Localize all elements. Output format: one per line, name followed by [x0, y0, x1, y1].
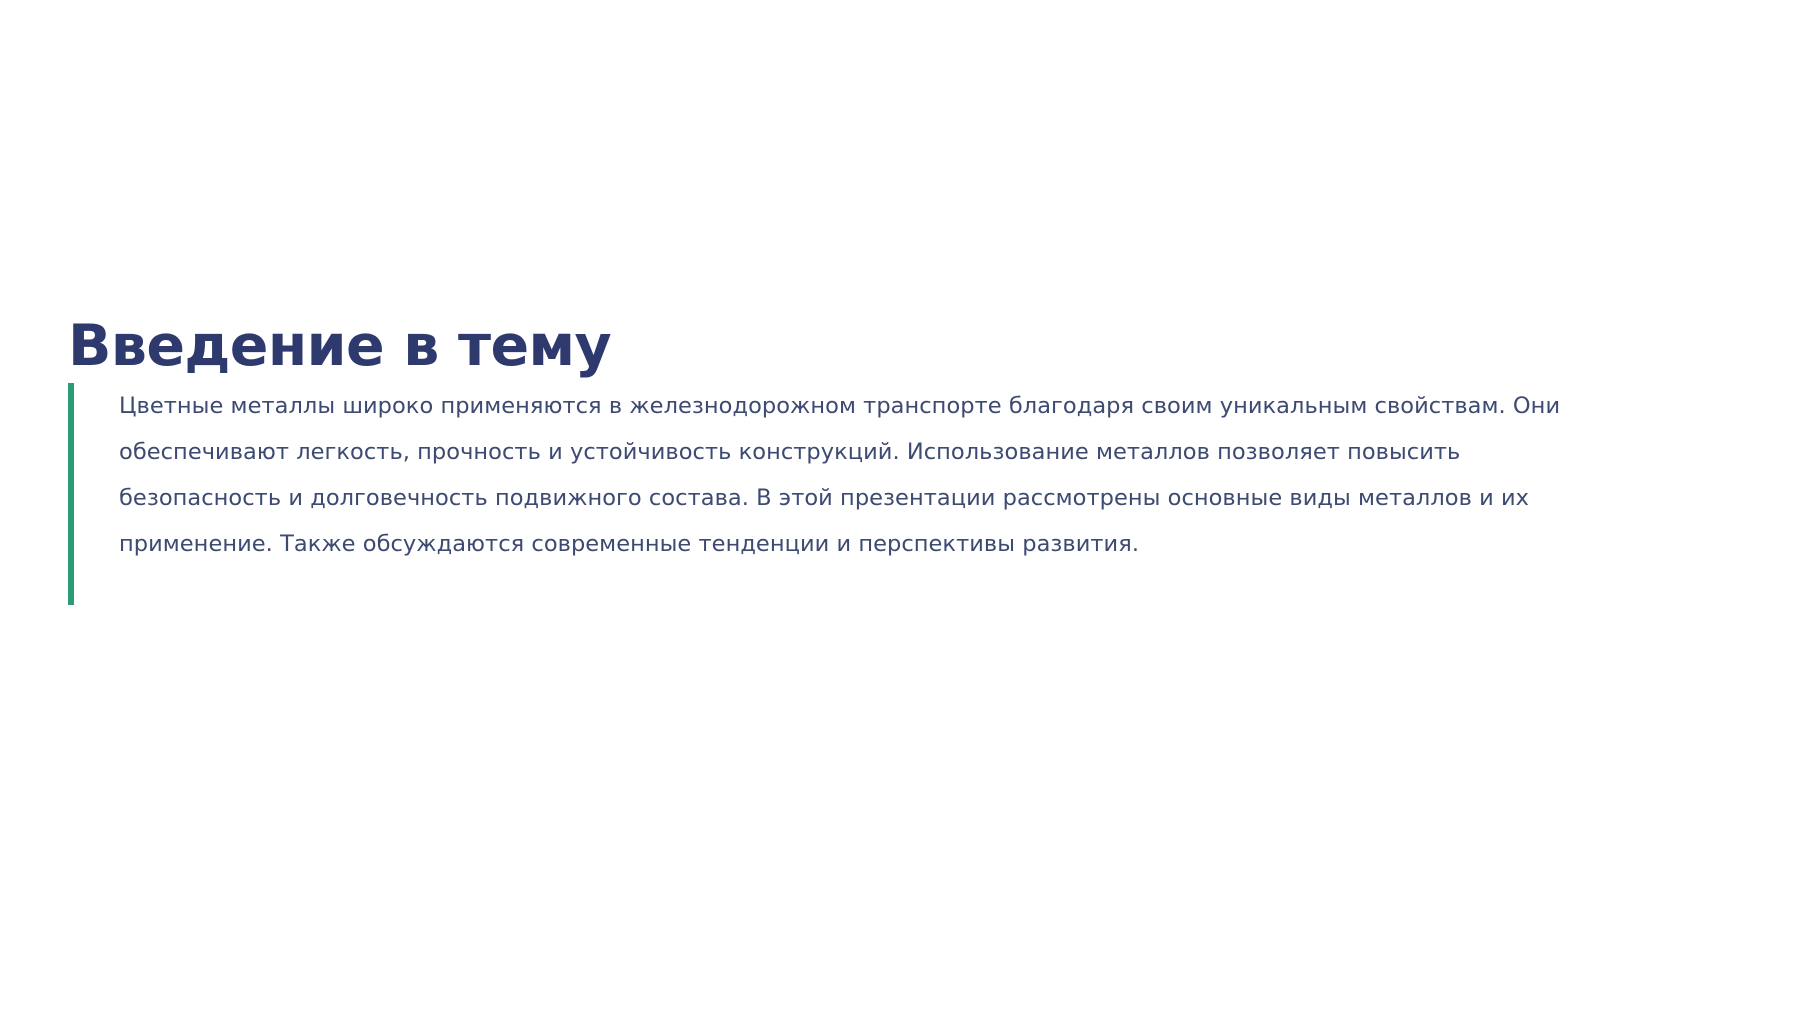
slide-canvas: Введение в тему Цветные металлы широко п… — [0, 0, 1800, 1013]
body-paragraph: Цветные металлы широко применяются в жел… — [74, 383, 1628, 605]
page-title: Введение в тему — [68, 317, 611, 377]
body-callout: Цветные металлы широко применяются в жел… — [68, 383, 1628, 605]
